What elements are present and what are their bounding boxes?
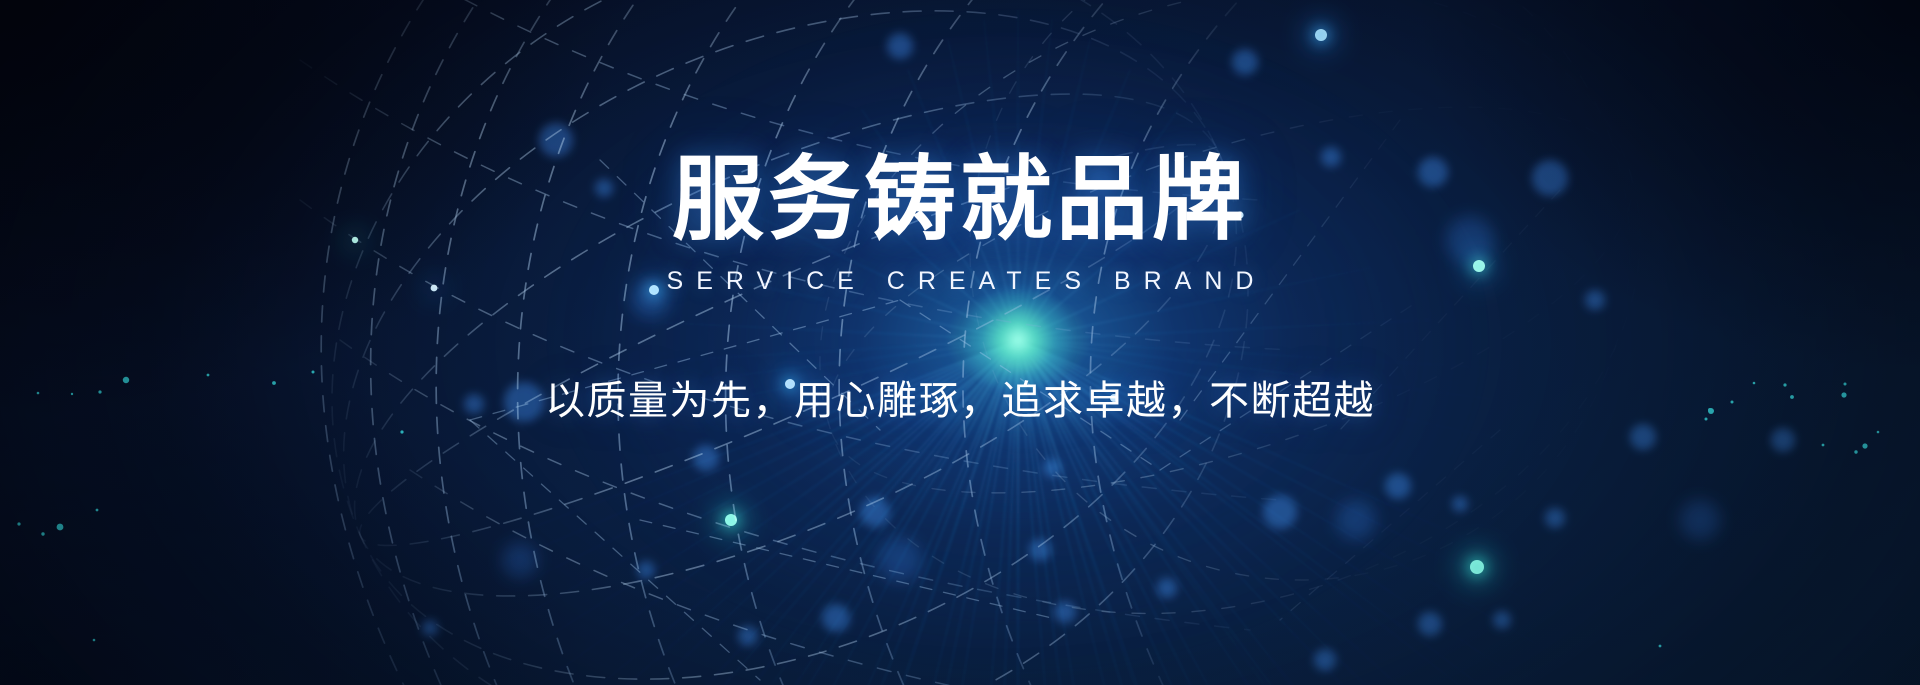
node-glow xyxy=(1229,204,1251,226)
node-glow xyxy=(424,278,444,298)
glowing-nodes-layer xyxy=(0,0,1920,685)
node-glow xyxy=(1303,17,1339,53)
node-glow xyxy=(1102,386,1126,410)
node-glow xyxy=(346,231,364,249)
hero-banner: 服务铸就品牌 SERVICE CREATES BRAND 以质量为先，用心雕琢，… xyxy=(0,0,1920,685)
node-glow xyxy=(1461,248,1497,284)
node-glow xyxy=(638,274,670,306)
node-glow xyxy=(713,502,749,538)
node-glow xyxy=(1457,547,1497,587)
node-glow xyxy=(774,368,806,400)
